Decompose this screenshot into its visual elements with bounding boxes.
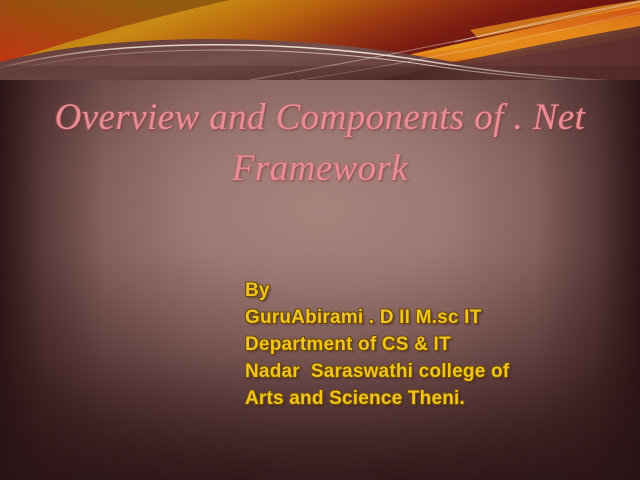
header-wave-graphic bbox=[0, 0, 640, 80]
body-line-college-2: Arts and Science Theni. bbox=[245, 385, 625, 412]
body-line-by: By bbox=[245, 277, 625, 304]
slide-body-text-container: By GuruAbirami . D II M.sc IT Department… bbox=[245, 277, 625, 412]
slide-title-container: Overview and Components of . Net Framewo… bbox=[40, 92, 600, 194]
header-wave-banner bbox=[0, 0, 640, 80]
body-line-college-1: Nadar Saraswathi college of bbox=[245, 358, 625, 385]
body-line-department: Department of CS & IT bbox=[245, 331, 625, 358]
body-line-author: GuruAbirami . D II M.sc IT bbox=[245, 304, 625, 331]
slide-canvas: Overview and Components of . Net Framewo… bbox=[0, 0, 640, 480]
page-title: Overview and Components of . Net Framewo… bbox=[40, 92, 600, 194]
